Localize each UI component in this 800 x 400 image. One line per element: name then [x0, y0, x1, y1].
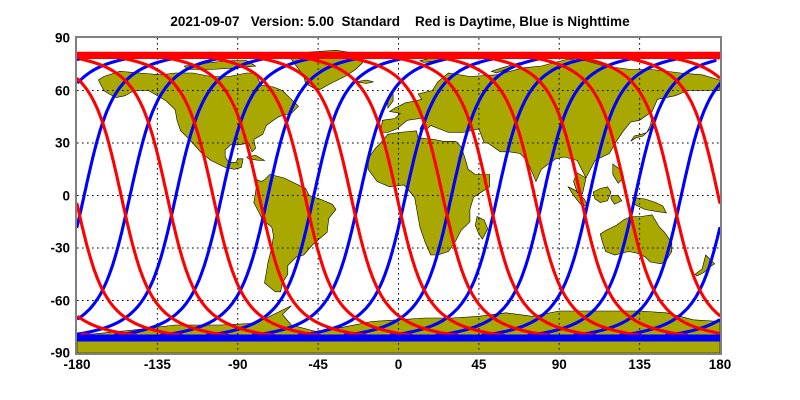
y-tick-label: 30 — [55, 136, 70, 151]
x-tick-label: -45 — [308, 357, 328, 372]
x-tick-label: 0 — [395, 357, 403, 372]
plot-area — [75, 36, 722, 355]
x-tick-label: 45 — [471, 357, 486, 372]
chart-root: 2021-09-07 Version: 5.00 Standard Red is… — [0, 0, 800, 400]
y-tick-label: 90 — [55, 31, 70, 46]
x-tick-label: -90 — [228, 357, 248, 372]
y-axis-ticks: -90-60-300306090 — [0, 36, 70, 355]
x-tick-label: -135 — [144, 357, 171, 372]
y-tick-label: 60 — [55, 83, 70, 98]
x-axis-ticks: -180-135-90-4504590135180 — [75, 357, 722, 379]
x-tick-label: -180 — [63, 357, 90, 372]
chart-title: 2021-09-07 Version: 5.00 Standard Red is… — [0, 14, 800, 29]
ground-track-plot — [77, 38, 720, 353]
y-tick-label: -60 — [50, 293, 70, 308]
x-tick-label: 135 — [628, 357, 651, 372]
x-tick-label: 180 — [709, 357, 732, 372]
x-tick-label: 90 — [552, 357, 567, 372]
y-tick-label: -30 — [50, 241, 70, 256]
y-tick-label: 0 — [62, 188, 70, 203]
plot-canvas — [77, 38, 720, 353]
